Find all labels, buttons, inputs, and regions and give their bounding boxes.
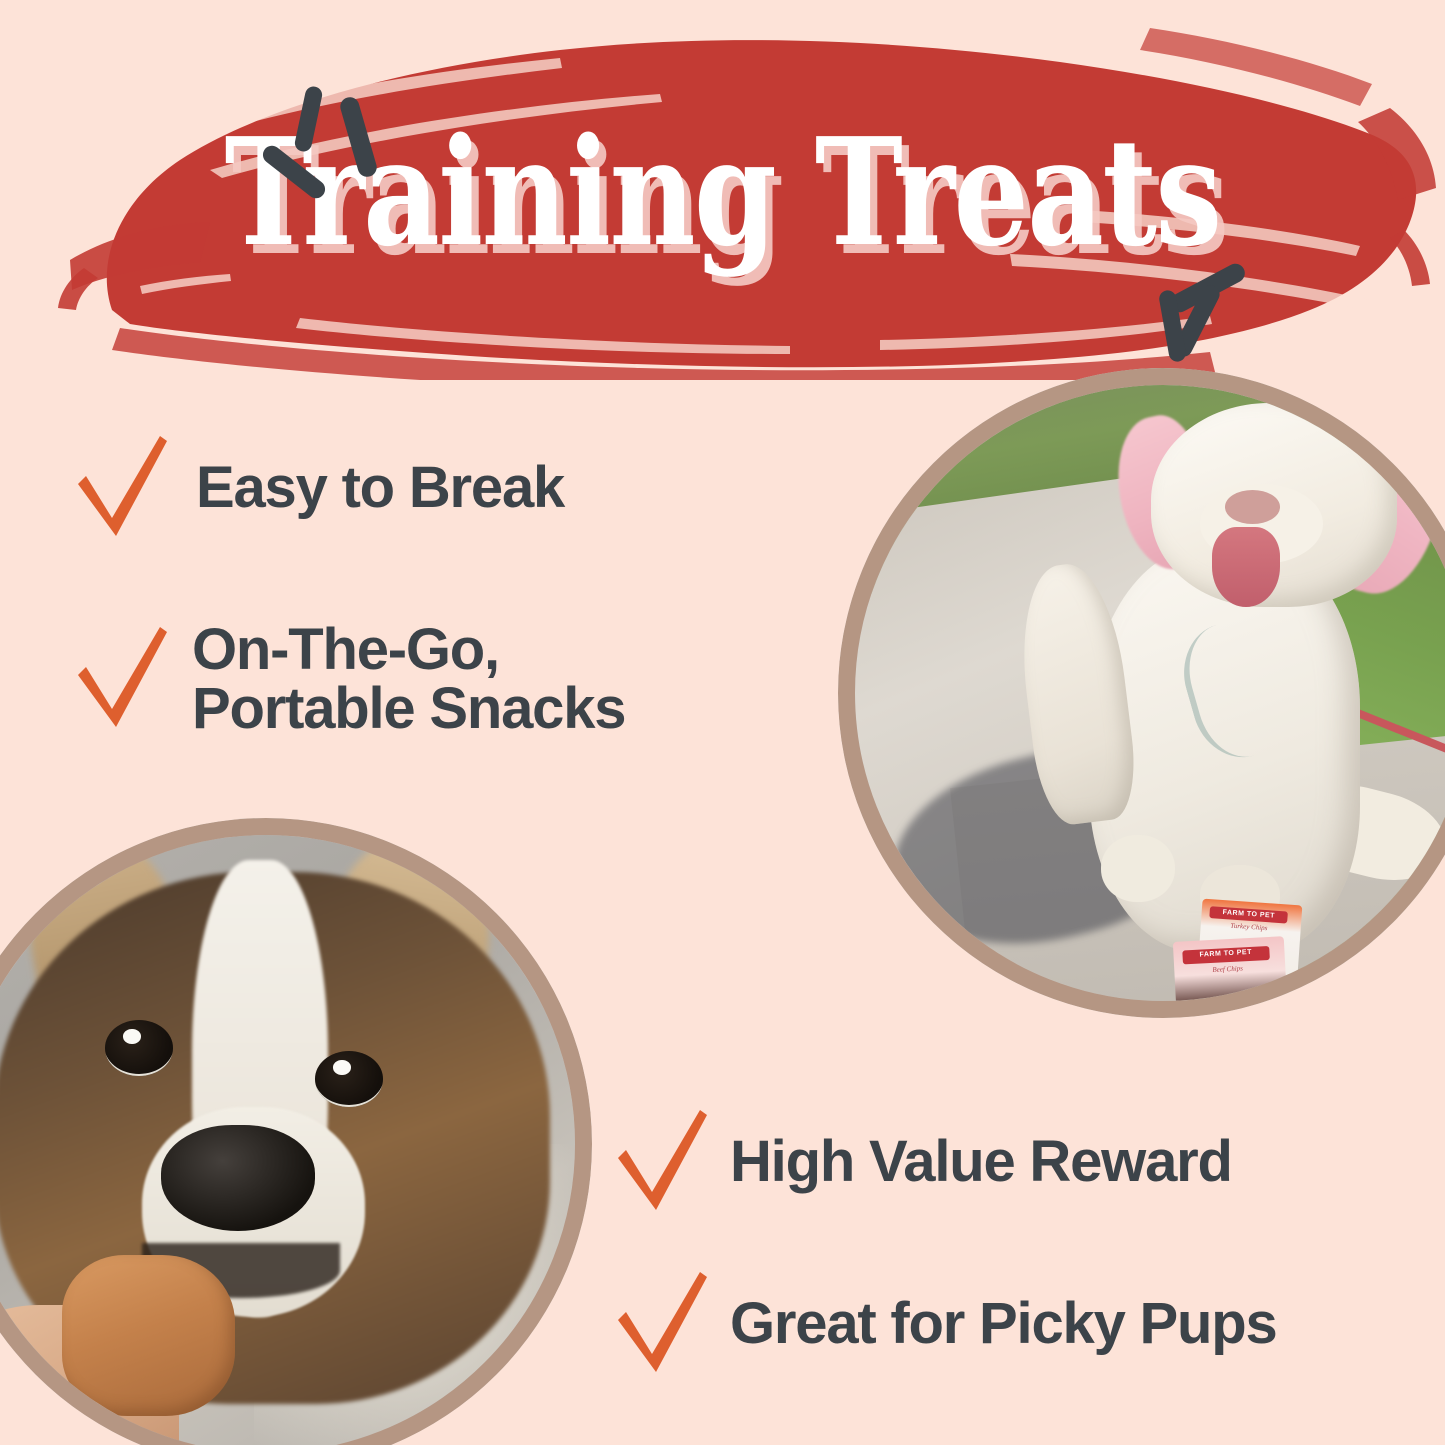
eye-glint [123,1029,141,1043]
doodle-dog-photo: FARM TO PET Turkey Chips FARM TO PET Bee… [838,368,1445,1018]
package-beef-chips: FARM TO PET Beef Chips [1173,937,1288,1001]
doodle-dog-scene: FARM TO PET Turkey Chips FARM TO PET Bee… [855,385,1445,1001]
package-brand-badge: FARM TO PET [1182,946,1269,965]
benefit-label: High Value Reward [730,1132,1232,1191]
check-icon [72,604,168,754]
check-icon [72,432,168,544]
benefit-easy-to-break: Easy to Break [72,432,564,544]
dog-nose [1225,490,1280,524]
training-treat [62,1255,235,1416]
check-icon [612,1268,708,1380]
puppy-nose [161,1125,316,1230]
benefit-label: Great for Picky Pups [730,1294,1277,1353]
puppy-eye [315,1051,383,1107]
product-package: FARM TO PET Turkey Chips FARM TO PET Bee… [1175,902,1311,1001]
training-treats-poster: Training Treats [0,0,1445,1445]
puppy-eye [105,1020,173,1076]
benefit-great-for-picky-pups: Great for Picky Pups [612,1268,1277,1380]
benefit-label: Easy to Break [196,458,564,517]
benefit-on-the-go-portable-snacks: On-The-Go, Portable Snacks [72,604,625,754]
eye-glint [333,1060,351,1074]
dog-front-paw [1101,835,1175,903]
puppy-scene [0,835,575,1445]
dog-tongue [1212,527,1280,607]
package-variant-label: Turkey Chips [1210,921,1287,934]
check-icon [612,1106,708,1218]
package-variant-label: Beef Chips [1186,963,1271,975]
benefit-high-value-reward: High Value Reward [612,1106,1232,1218]
puppy-photo [0,818,592,1445]
benefit-label: On-The-Go, Portable Snacks [192,620,625,738]
